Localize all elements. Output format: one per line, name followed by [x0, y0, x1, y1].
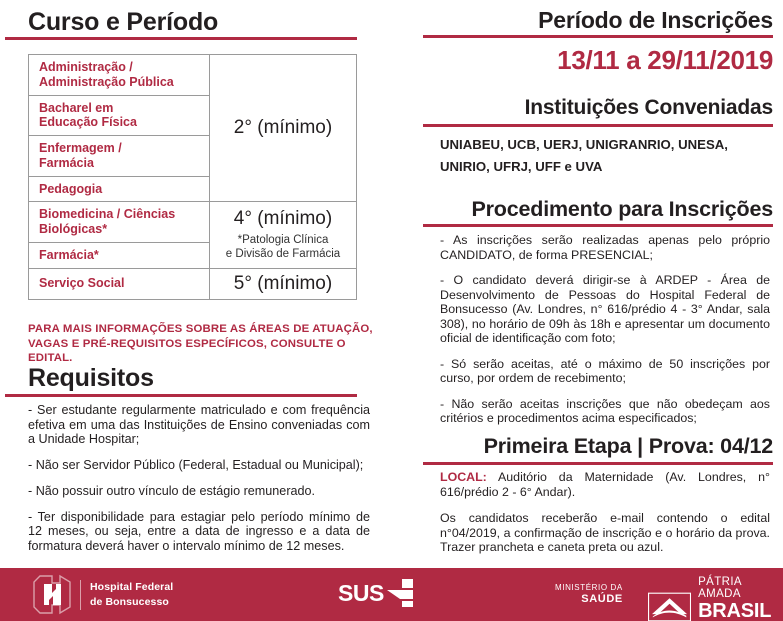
hospital-federal-bonsucesso-logo: Hospital Federal de Bonsucesso: [30, 574, 173, 615]
primeira-etapa-body: LOCAL: Auditório da Maternidade (Av. Lon…: [440, 470, 770, 567]
gov-line1: PÁTRIA AMADA: [698, 577, 783, 601]
inscription-date-range: 13/11 a 29/11/2019: [402, 45, 773, 76]
heading-requisitos: Requisitos: [28, 364, 154, 393]
heading-primeira-etapa: Primeira Etapa | Prova: 04/12: [484, 434, 773, 459]
sus-cross-icon: [387, 579, 413, 607]
period-note: *Patologia Clínicae Divisão de Farmácia: [212, 233, 354, 261]
requisito-item: - Não ser Servidor Público (Federal, Est…: [28, 458, 370, 473]
governo-federal-logo: PÁTRIA AMADA BRASIL GOVERNO FEDERAL: [648, 577, 783, 621]
rule-under-primeira-etapa: [423, 462, 773, 465]
left-column: Curso e Período Administração /Administr…: [0, 0, 392, 568]
procedimento-list: - As inscrições serão realizadas apenas …: [440, 233, 770, 437]
rule-under-curso: [5, 37, 357, 40]
rule-under-procedimento: [423, 224, 773, 227]
course-cell: Biomedicina / CiênciasBiológicas*: [29, 202, 210, 243]
governo-federal-text: PÁTRIA AMADA BRASIL GOVERNO FEDERAL: [698, 577, 783, 621]
rule-under-requisitos: [5, 394, 357, 397]
right-column: Período de Inscrições 13/11 a 29/11/2019…: [392, 0, 783, 568]
table-row: Biomedicina / CiênciasBiológicas*4° (mín…: [29, 202, 357, 243]
ministerio-da-saude-logo: MINISTÉRIO DA SAÚDE: [555, 583, 623, 607]
hospital-h-mark-icon: [30, 574, 74, 615]
edital-note: PARA MAIS INFORMAÇÕES SOBRE AS ÁREAS DE …: [28, 322, 373, 366]
course-cell: Pedagogia: [29, 176, 210, 202]
course-cell: Bacharel emEducação Física: [29, 95, 210, 136]
heading-curso-e-periodo: Curso e Período: [28, 8, 218, 37]
hospital-name-line1: Hospital Federal: [90, 580, 173, 595]
poster-root: Curso e Período Administração /Administr…: [0, 0, 783, 621]
period-value: 2° (mínimo): [234, 117, 332, 138]
ministry-line1: MINISTÉRIO DA: [555, 583, 623, 593]
rule-under-instituicoes: [423, 124, 773, 127]
brasil-flag-mark-icon: [648, 589, 691, 621]
heading-procedimento-inscricoes: Procedimento para Inscrições: [472, 197, 774, 222]
local-text: Auditório da Maternidade (Av. Londres, n…: [440, 470, 770, 499]
email-note: Os candidatos receberão e-mail contendo …: [440, 511, 770, 555]
procedimento-item: - O candidato deverá dirigir-se à ARDEP …: [440, 273, 770, 346]
period-cell: 2° (mínimo): [210, 55, 357, 202]
hospital-name-text: Hospital Federal de Bonsucesso: [90, 580, 173, 610]
table-row: Serviço Social5° (mínimo): [29, 268, 357, 299]
procedimento-item: - As inscrições serão realizadas apenas …: [440, 233, 770, 262]
period-cell: 4° (mínimo)*Patologia Clínicae Divisão d…: [210, 202, 357, 268]
procedimento-item: - Não serão aceitas inscrições que não o…: [440, 397, 770, 426]
requisito-item: - Não possuir outro vínculo de estágio r…: [28, 484, 370, 499]
logo-divider: [80, 580, 81, 610]
heading-instituicoes-conveniadas: Instituições Conveniadas: [525, 96, 773, 120]
ministry-line2: SAÚDE: [555, 593, 623, 607]
prova-local: LOCAL: Auditório da Maternidade (Av. Lon…: [440, 470, 770, 499]
rule-under-periodo: [423, 35, 773, 38]
course-cell: Farmácia*: [29, 242, 210, 268]
requisito-item: - Ser estudante regularmente matriculado…: [28, 403, 370, 447]
period-cell: 5° (mínimo): [210, 268, 357, 299]
hospital-name-line2: de Bonsucesso: [90, 595, 173, 610]
gov-line2: BRASIL: [698, 601, 783, 621]
course-cell: Enfermagem /Farmácia: [29, 136, 210, 177]
local-label: LOCAL:: [440, 470, 487, 484]
footer-bar: Hospital Federal de Bonsucesso SUS MINIS…: [0, 568, 783, 621]
requisito-item: - Ter disponibilidade para estagiar pelo…: [28, 510, 370, 554]
period-value: 5° (mínimo): [234, 273, 332, 294]
course-cell: Administração /Administração Pública: [29, 55, 210, 96]
table-row: Administração /Administração Pública2° (…: [29, 55, 357, 96]
instituicoes-list: UNIABEU, UCB, UERJ, UNIGRANRIO, UNESA, U…: [440, 134, 775, 178]
requisitos-list: - Ser estudante regularmente matriculado…: [28, 403, 370, 554]
sus-logo: SUS: [338, 579, 413, 607]
period-value: 4° (mínimo): [234, 208, 332, 229]
sus-wordmark: SUS: [338, 582, 384, 605]
procedimento-item: - Só serão aceitas, até o máximo de 50 i…: [440, 357, 770, 386]
course-period-table: Administração /Administração Pública2° (…: [28, 54, 357, 300]
course-cell: Serviço Social: [29, 268, 210, 299]
heading-periodo-de-inscricoes: Período de Inscrições: [538, 7, 773, 34]
